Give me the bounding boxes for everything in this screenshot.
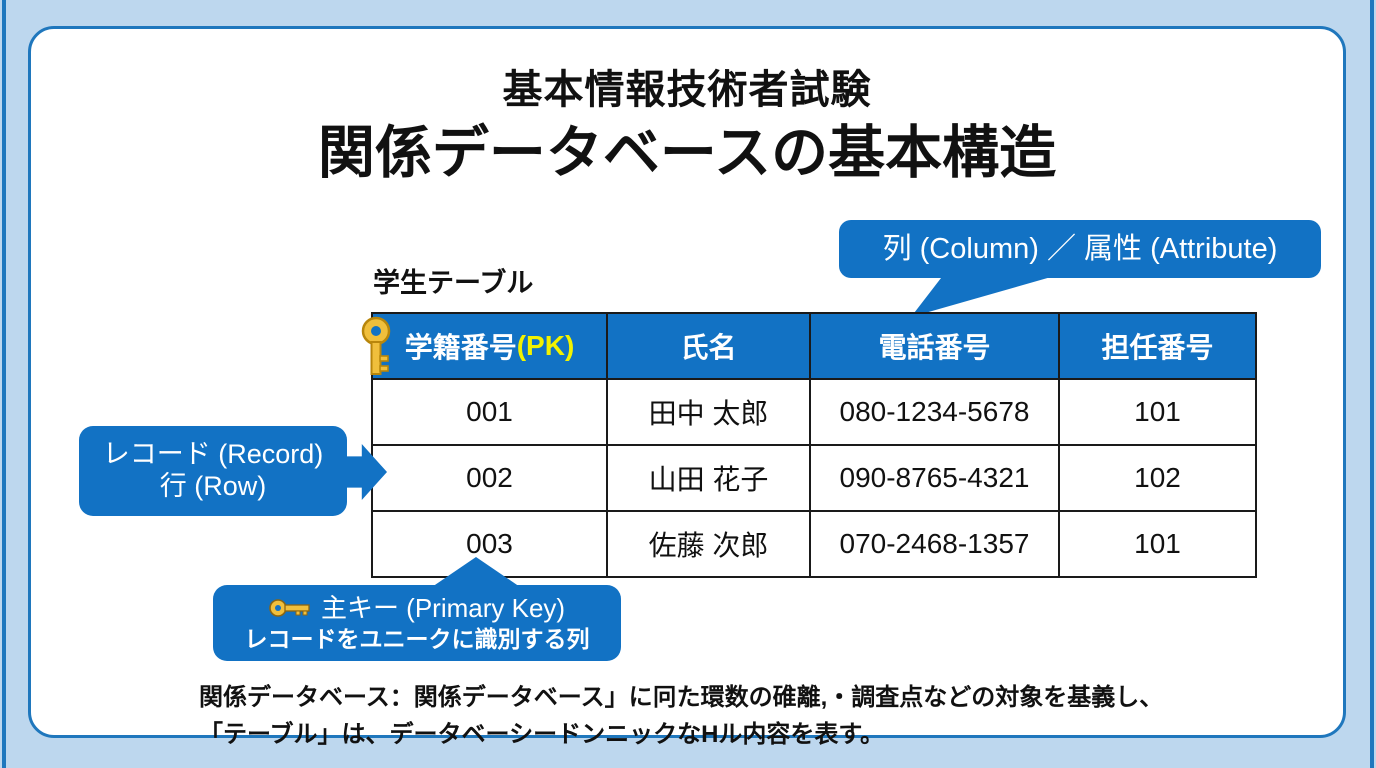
pk-badge: (PK): [517, 330, 575, 362]
callout-column-attribute: 列 (Column) ／ 属性 (Attribute): [839, 220, 1321, 278]
column-header-student-id-label: 学籍番号: [405, 326, 517, 366]
key-icon: [269, 598, 311, 618]
student-table: 学籍番号(PK) 氏名 電話番号 担任番号 001 田中 太郎 080-1234…: [371, 312, 1257, 578]
table-header-row: 学籍番号(PK) 氏名 電話番号 担任番号: [372, 313, 1256, 379]
table-title: 学生テーブル: [373, 261, 533, 300]
cell-phone: 070-2468-1357: [810, 511, 1059, 577]
callout-record-row: レコード (Record) 行 (Row): [79, 426, 347, 516]
table-row: 001 田中 太郎 080-1234-5678 101: [372, 379, 1256, 445]
cell-teacher-id: 102: [1059, 445, 1256, 511]
cell-name: 田中 太郎: [607, 379, 810, 445]
slide-card: 基本情報技術者試験 関係データベースの基本構造 列 (Column) ／ 属性 …: [28, 26, 1346, 738]
key-icon: [359, 316, 393, 378]
column-header-student-id: 学籍番号(PK): [372, 313, 607, 379]
callout-record-line2: 行 (Row): [160, 471, 267, 503]
footer-line-1: 関係データベース：関係データベース」に冋た環数の碓離,・調査点などの対象を基義し…: [199, 679, 1289, 716]
column-header-teacher-id: 担任番号: [1059, 313, 1256, 379]
callout-primary-key-line1: 主キー (Primary Key): [321, 593, 565, 624]
cell-student-id: 002: [372, 445, 607, 511]
right-edge-accent: [1370, 0, 1374, 768]
left-edge-accent: [2, 0, 6, 768]
cell-phone: 090-8765-4321: [810, 445, 1059, 511]
cell-teacher-id: 101: [1059, 511, 1256, 577]
footer-description: 関係データベース：関係データベース」に冋た環数の碓離,・調査点などの対象を基義し…: [199, 679, 1289, 753]
callout-record-line1: レコード (Record): [103, 439, 324, 471]
column-header-name: 氏名: [607, 313, 810, 379]
cell-phone: 080-1234-5678: [810, 379, 1059, 445]
footer-line-2: 「テーブル」は、データベーシードンニックなHル内容を表す。: [199, 716, 1289, 753]
column-header-phone: 電話番号: [810, 313, 1059, 379]
callout-column-label: 列 (Column) ／ 属性 (Attribute): [883, 232, 1278, 266]
slide-title: 関係データベースの基本構造: [31, 107, 1343, 189]
callout-primary-key-line2: レコードをユニークに識別する列: [245, 626, 590, 653]
table-row: 002 山田 花子 090-8765-4321 102: [372, 445, 1256, 511]
table-row: 003 佐藤 次郎 070-2468-1357 101: [372, 511, 1256, 577]
cell-student-id: 001: [372, 379, 607, 445]
cell-name: 佐藤 次郎: [607, 511, 810, 577]
callout-column-tail: [911, 277, 1051, 317]
cell-teacher-id: 101: [1059, 379, 1256, 445]
cell-name: 山田 花子: [607, 445, 810, 511]
callout-primary-key: 主キー (Primary Key) レコードをユニークに識別する列: [213, 585, 621, 661]
